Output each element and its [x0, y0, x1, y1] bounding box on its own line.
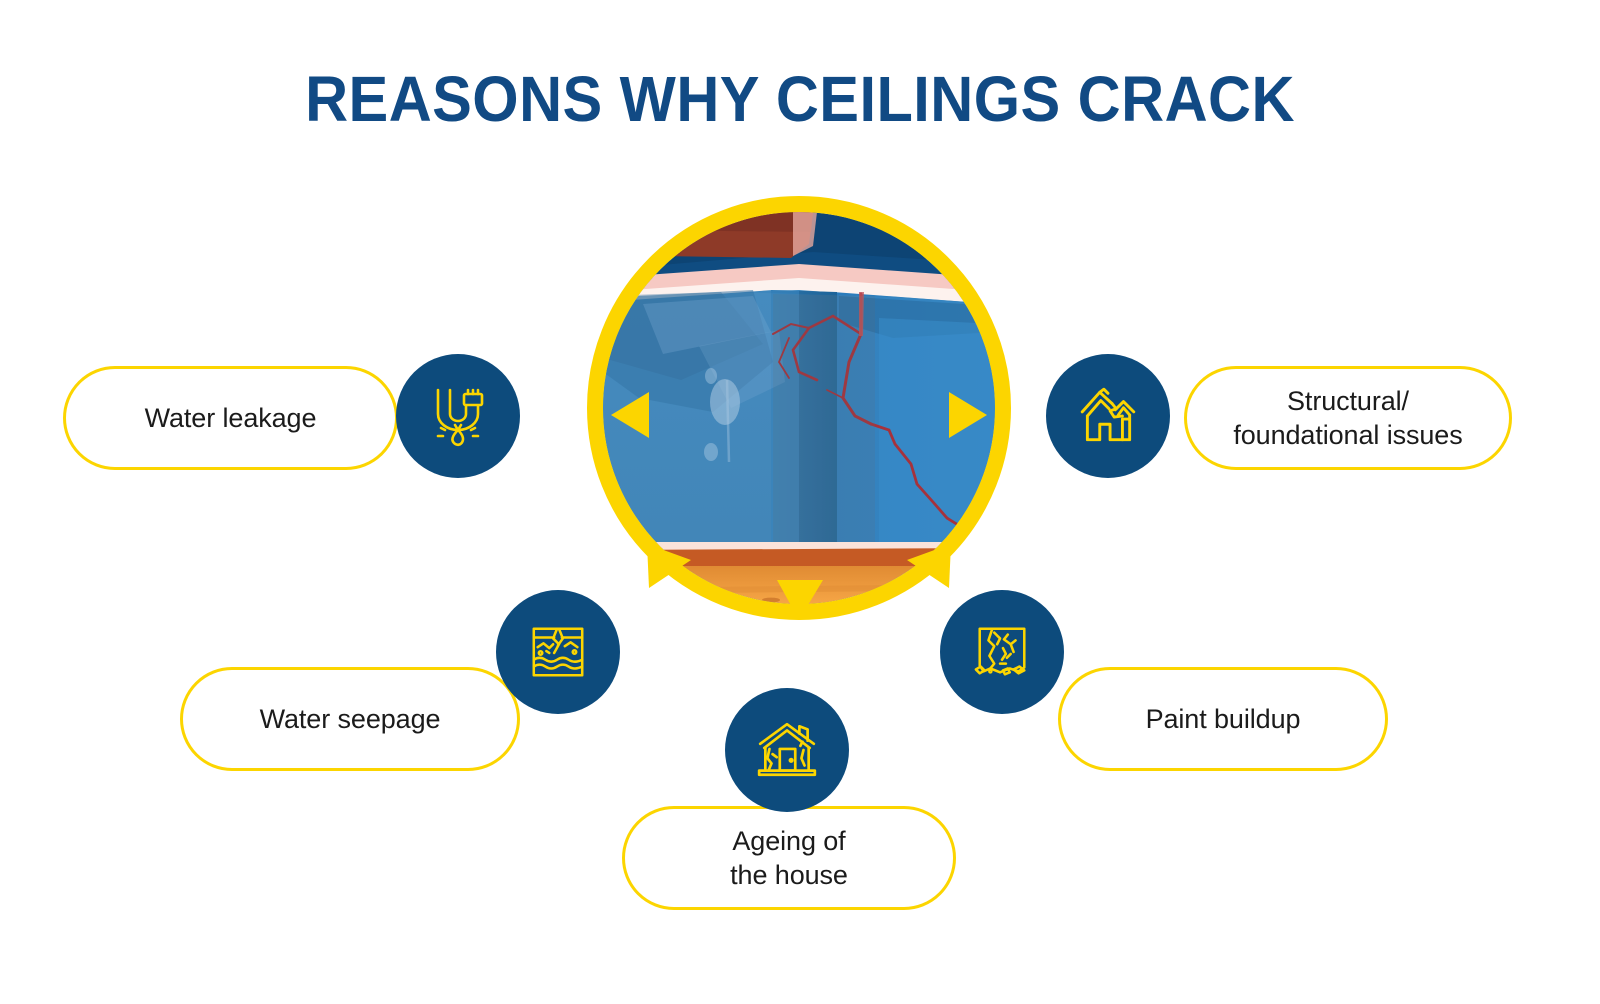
reason-icon-circle-structural-foundational-issues[interactable] [1046, 354, 1170, 478]
pointer-left [611, 392, 649, 438]
peeling-cracked-paint-icon [971, 621, 1033, 683]
reason-icon-circle-paint-buildup[interactable] [940, 590, 1064, 714]
pointer-right [949, 392, 987, 438]
reason-icon-circle-water-seepage[interactable] [496, 590, 620, 714]
reason-pill-paint-buildup[interactable]: Paint buildup [1058, 667, 1388, 771]
reason-label-line-2: foundational issues [1233, 420, 1462, 450]
reason-label-water-seepage: Water seepage [246, 702, 455, 736]
reason-pill-water-seepage[interactable]: Water seepage [180, 667, 520, 771]
reason-pill-water-leakage[interactable]: Water leakage [63, 366, 398, 470]
reason-icon-circle-water-leakage[interactable] [396, 354, 520, 478]
old-cracked-house-icon [754, 717, 820, 783]
reason-icon-circle-ageing-of-the-house[interactable] [725, 688, 849, 812]
leaking-pipe-icon [426, 384, 490, 448]
reason-label-ageing-of-the-house: Ageing of the house [716, 824, 862, 892]
reason-label-line-1: Structural/ [1287, 386, 1409, 416]
reason-label-water-leakage: Water leakage [131, 401, 331, 435]
broken-roof-house-icon [1075, 383, 1141, 449]
reason-label-line-1: Ageing of [732, 826, 845, 856]
reason-label-paint-buildup: Paint buildup [1132, 702, 1315, 736]
reason-label-structural-foundational-issues: Structural/ foundational issues [1219, 384, 1476, 452]
reason-label-line-2: the house [730, 860, 848, 890]
reason-pill-ageing-of-the-house[interactable]: Ageing of the house [622, 806, 956, 910]
ring-stroke [595, 204, 1003, 612]
page-title: REASONS WHY CEILINGS CRACK [56, 62, 1544, 136]
center-illustration [587, 196, 1011, 620]
yellow-ring-with-pointers [587, 196, 1011, 620]
cracked-wall-water-icon [527, 621, 589, 683]
reason-pill-structural-foundational-issues[interactable]: Structural/ foundational issues [1184, 366, 1512, 470]
